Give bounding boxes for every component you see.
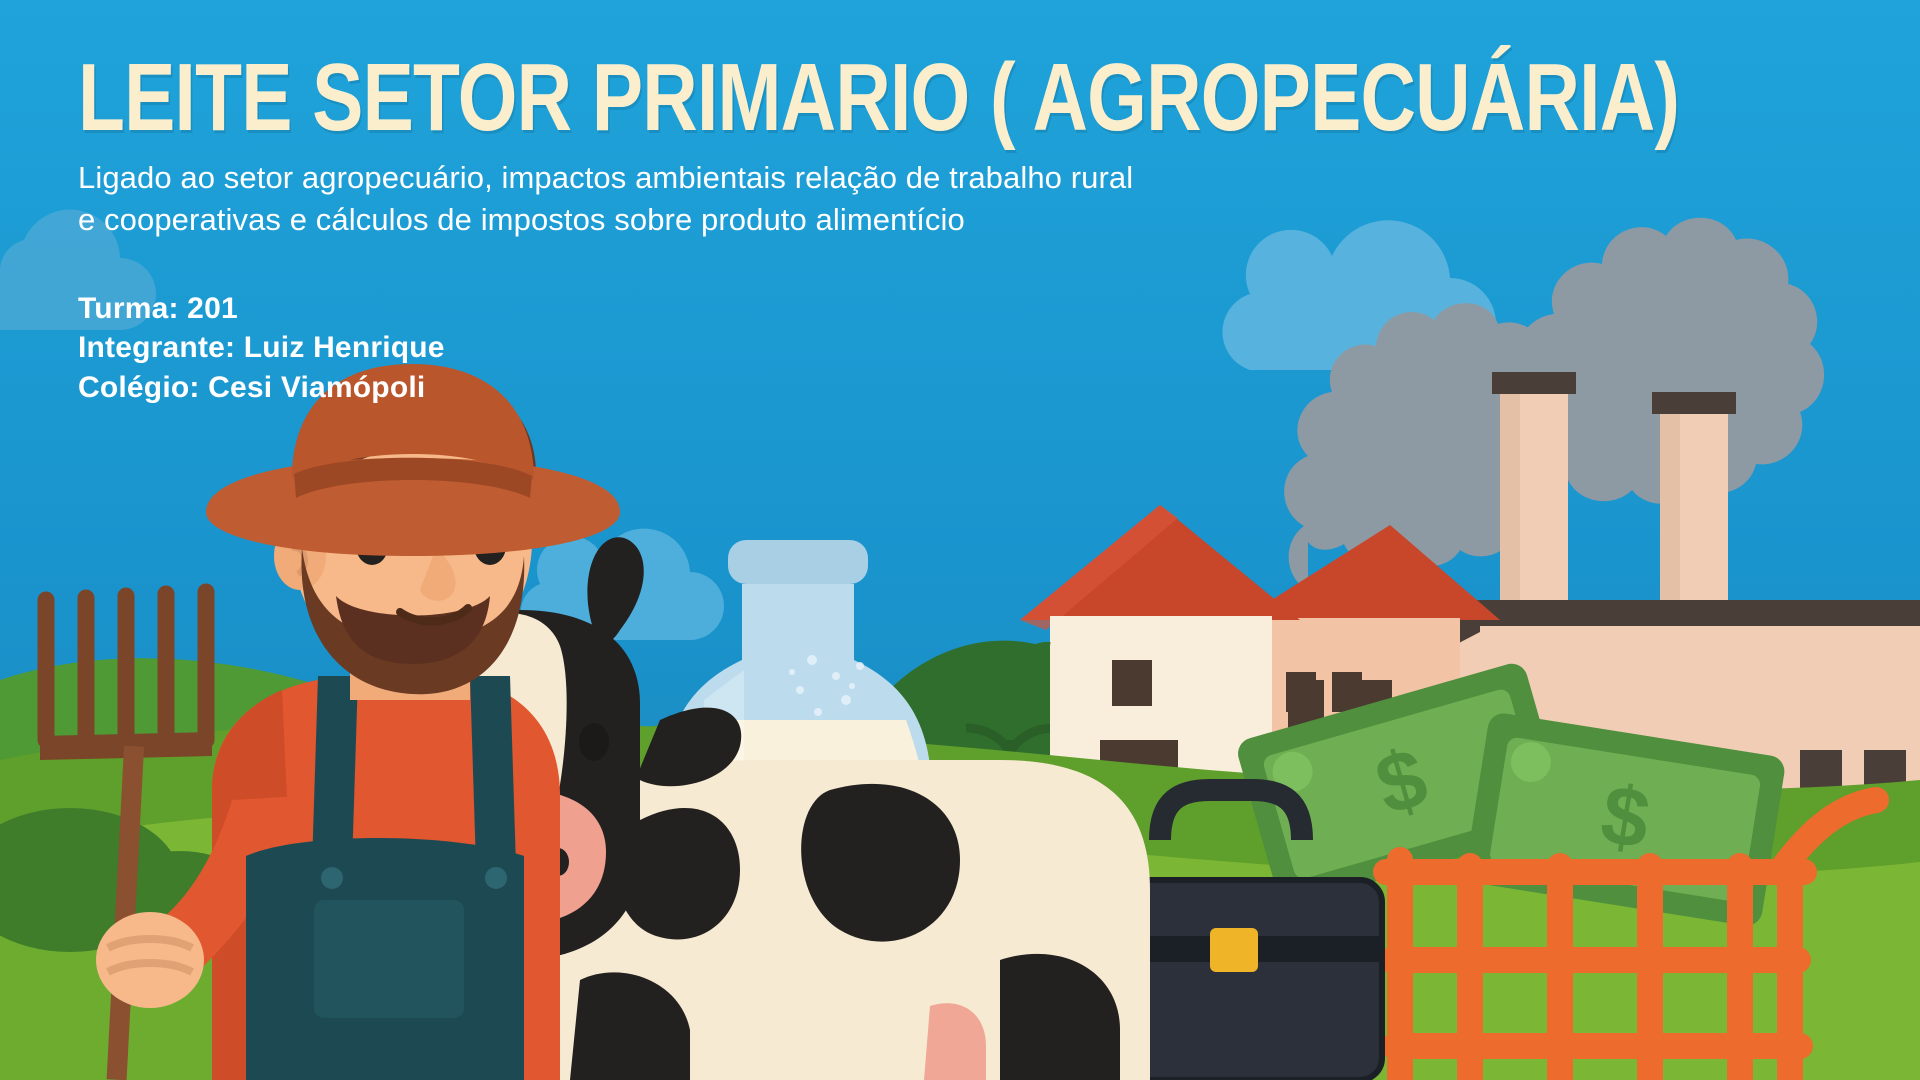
meta-turma: Turma: 201 (78, 289, 1398, 329)
subtitle-line-1: Ligado ao setor agropecuário, impactos a… (78, 157, 1398, 199)
presentation-slide: $ $ (0, 0, 1920, 1080)
subtitle-line-2: e cooperativas e cálculos de impostos so… (78, 199, 1398, 241)
slide-meta-block: Turma: 201 Integrante: Luiz Henrique Col… (78, 289, 1398, 408)
farmer-head (206, 364, 620, 694)
meta-colegio: Colégio: Cesi Viamópoli (78, 368, 1398, 408)
slide-text-block: LEITE SETOR PRIMARIO ( AGROPECUÁRIA) Lig… (78, 52, 1398, 408)
pitchfork-icon (40, 592, 212, 1080)
page-title: LEITE SETOR PRIMARIO ( AGROPECUÁRIA) (78, 52, 1134, 143)
meta-integrante: Integrante: Luiz Henrique (78, 328, 1398, 368)
